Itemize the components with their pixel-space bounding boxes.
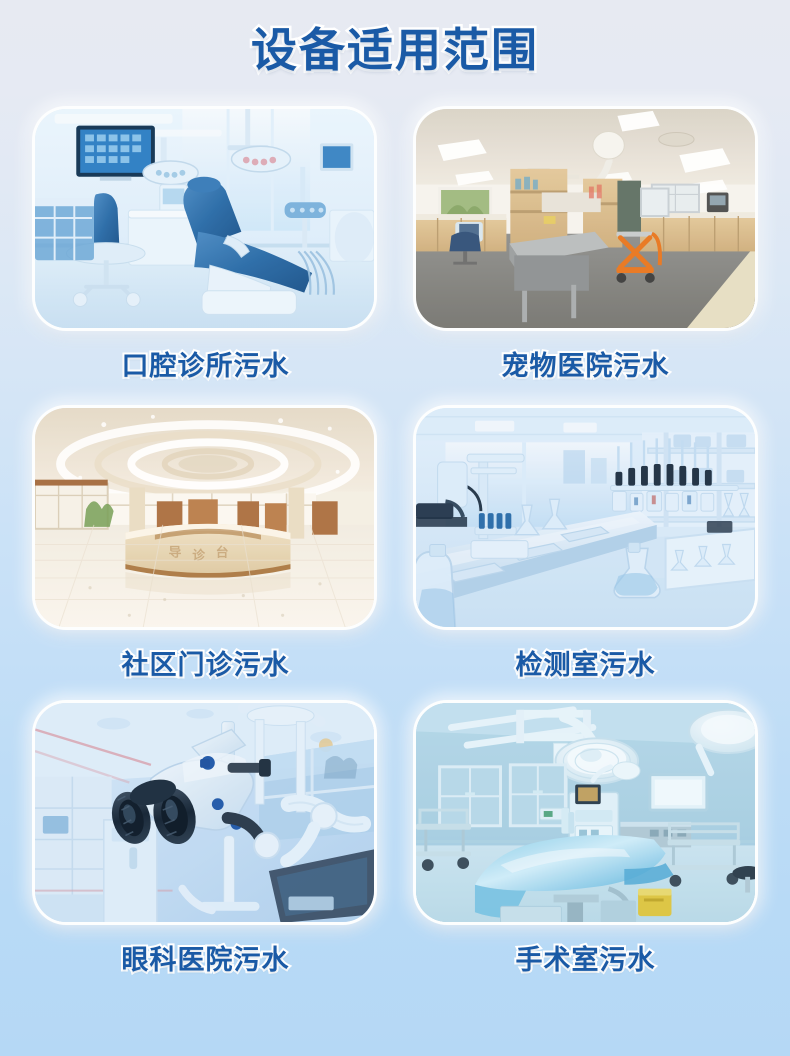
card-image-ophthalmic-microscope	[32, 700, 377, 925]
clinic-lobby-illustration: 导诊台	[35, 408, 374, 627]
dental-clinic-illustration	[35, 109, 374, 328]
card-image-clinic-lobby: 导诊台	[32, 405, 377, 630]
scope-card-laboratory[interactable]: 检测室污水	[413, 405, 758, 682]
card-image-operating-room	[413, 700, 758, 925]
card-image-dental-clinic	[32, 106, 377, 331]
operating-room-illustration	[416, 703, 755, 922]
scope-card-grid: 口腔诊所污水	[32, 106, 758, 977]
laboratory-illustration	[416, 408, 755, 627]
veterinary-hospital-illustration	[416, 109, 755, 328]
card-caption: 口腔诊所污水	[32, 344, 377, 383]
scope-card-clinic-lobby[interactable]: 导诊台 社区门诊污水	[32, 405, 377, 682]
card-caption: 检测室污水	[413, 643, 758, 682]
ophthalmic-microscope-illustration	[35, 703, 374, 922]
scope-card-dental[interactable]: 口腔诊所污水	[32, 106, 377, 383]
card-caption: 眼科医院污水	[32, 938, 377, 977]
card-image-veterinary-hospital	[413, 106, 758, 331]
card-image-laboratory	[413, 405, 758, 630]
card-caption: 社区门诊污水	[32, 643, 377, 682]
scope-card-operating-room[interactable]: 手术室污水	[413, 700, 758, 977]
scope-card-ophthalmology[interactable]: 眼科医院污水	[32, 700, 377, 977]
card-caption: 宠物医院污水	[413, 344, 758, 383]
scope-card-veterinary[interactable]: 宠物医院污水	[413, 106, 758, 383]
card-caption: 手术室污水	[413, 938, 758, 977]
page-title: 设备适用范围	[0, 0, 790, 80]
